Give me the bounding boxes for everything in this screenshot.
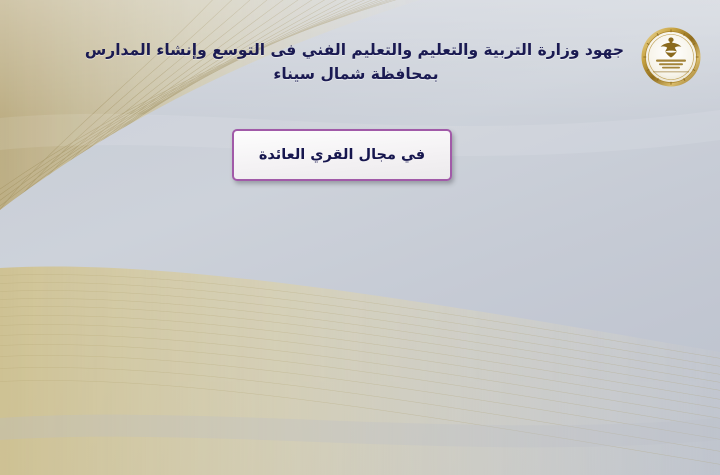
section-heading-box: في مجال القري العائدة bbox=[232, 129, 452, 181]
section-heading-label: في مجال القري العائدة bbox=[259, 147, 425, 163]
egypt-ministry-seal-icon bbox=[640, 26, 702, 88]
title-line-2: بمحافظة شمال سيناء bbox=[88, 62, 624, 86]
infographic-canvas: جهود وزارة التربية والتعليم والتعليم الف… bbox=[0, 0, 720, 475]
title-line-1: جهود وزارة التربية والتعليم والتعليم الف… bbox=[88, 38, 624, 62]
page-title: جهود وزارة التربية والتعليم والتعليم الف… bbox=[88, 38, 624, 86]
header: جهود وزارة التربية والتعليم والتعليم الف… bbox=[0, 0, 720, 120]
